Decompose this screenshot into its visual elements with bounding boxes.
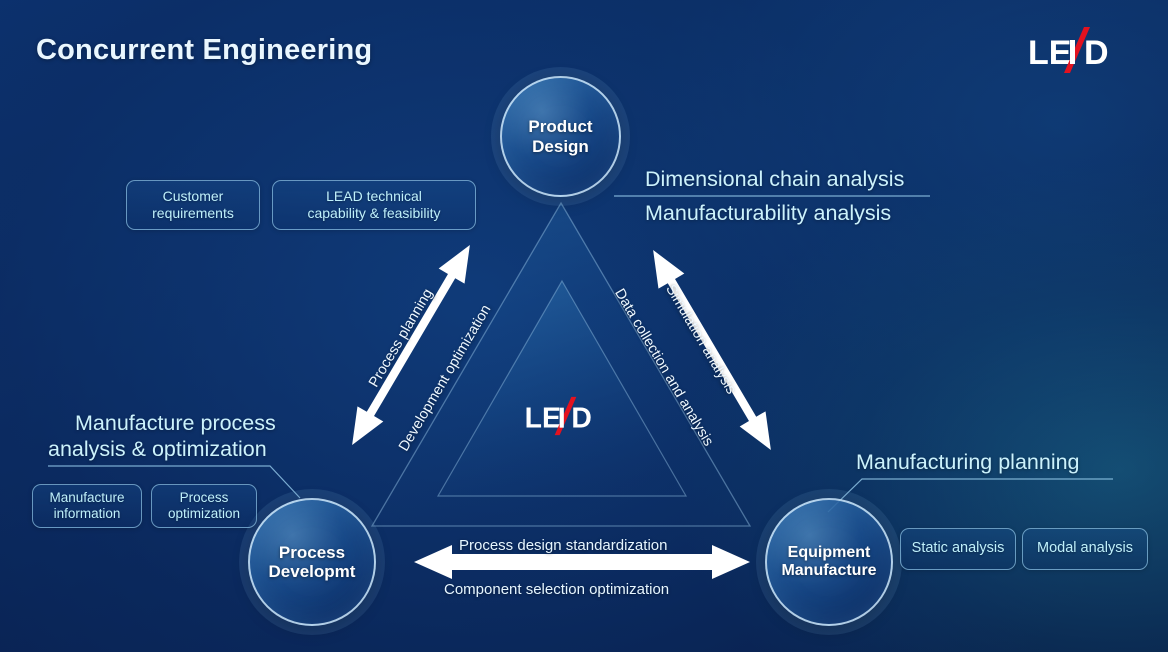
callout-manufacturability-analysis: Manufacturability analysis bbox=[645, 201, 891, 227]
pill-modal-analysis[interactable]: Modal analysis bbox=[1022, 528, 1148, 570]
pill-lead-technical-capability[interactable]: LEAD technical capability & feasibility bbox=[272, 180, 476, 230]
pill-lead-tech-line1: LEAD technical bbox=[326, 188, 422, 204]
pill-static-analysis[interactable]: Static analysis bbox=[900, 528, 1016, 570]
node-product-design[interactable]: Product Design bbox=[500, 76, 621, 197]
node-equipment-manufacture[interactable]: Equipment Manufacture bbox=[765, 498, 893, 626]
pill-proc-opt-line2: optimization bbox=[168, 506, 240, 521]
arrow-label-component-selection-optimization: Component selection optimization bbox=[444, 581, 669, 598]
pill-mfg-info-line1: Manufacture bbox=[49, 490, 124, 505]
pill-manufacture-information[interactable]: Manufacture information bbox=[32, 484, 142, 528]
node-equipment-manufacture-line1: Equipment bbox=[788, 544, 871, 561]
node-process-development-line2: Developmt bbox=[269, 562, 356, 581]
pill-mfg-info-line2: information bbox=[54, 506, 121, 521]
slide-canvas: Concurrent Engineering LE D LE D Product… bbox=[0, 0, 1168, 652]
callout-line-manufacturing-planning bbox=[828, 479, 1113, 512]
callout-manufacture-process-line1: Manufacture process bbox=[75, 411, 276, 437]
pill-modal-label: Modal analysis bbox=[1037, 540, 1133, 557]
pill-customer-line2: requirements bbox=[152, 205, 234, 221]
arrow-label-process-design-standardization: Process design standardization bbox=[459, 537, 667, 554]
lead-logo-center: LE D bbox=[524, 396, 602, 436]
node-process-development[interactable]: Process Developmt bbox=[248, 498, 376, 626]
lead-logo-corner: LE D bbox=[1028, 26, 1120, 74]
pill-static-label: Static analysis bbox=[912, 540, 1005, 557]
pill-customer-requirements[interactable]: Customer requirements bbox=[126, 180, 260, 230]
node-product-design-line1: Product bbox=[528, 117, 592, 136]
page-title: Concurrent Engineering bbox=[36, 34, 372, 67]
pill-process-optimization[interactable]: Process optimization bbox=[151, 484, 257, 528]
node-process-development-line1: Process bbox=[279, 543, 345, 562]
node-equipment-manufacture-line2: Manufacture bbox=[781, 562, 876, 579]
pill-proc-opt-line1: Process bbox=[180, 490, 229, 505]
lead-logo-center-letters-before: LE bbox=[525, 403, 561, 435]
lead-logo-letters-after: D bbox=[1084, 34, 1109, 72]
node-product-design-line2: Design bbox=[532, 137, 589, 156]
pill-lead-tech-line2: capability & feasibility bbox=[307, 205, 440, 221]
callout-manufacture-process-line2: analysis & optimization bbox=[48, 437, 267, 463]
lead-logo-center-letters-after: D bbox=[571, 403, 591, 435]
lead-logo-letters-before: LE bbox=[1028, 34, 1071, 72]
callout-manufacturing-planning: Manufacturing planning bbox=[856, 450, 1080, 476]
callout-dimensional-chain-analysis: Dimensional chain analysis bbox=[645, 167, 904, 193]
pill-customer-line1: Customer bbox=[163, 188, 224, 204]
